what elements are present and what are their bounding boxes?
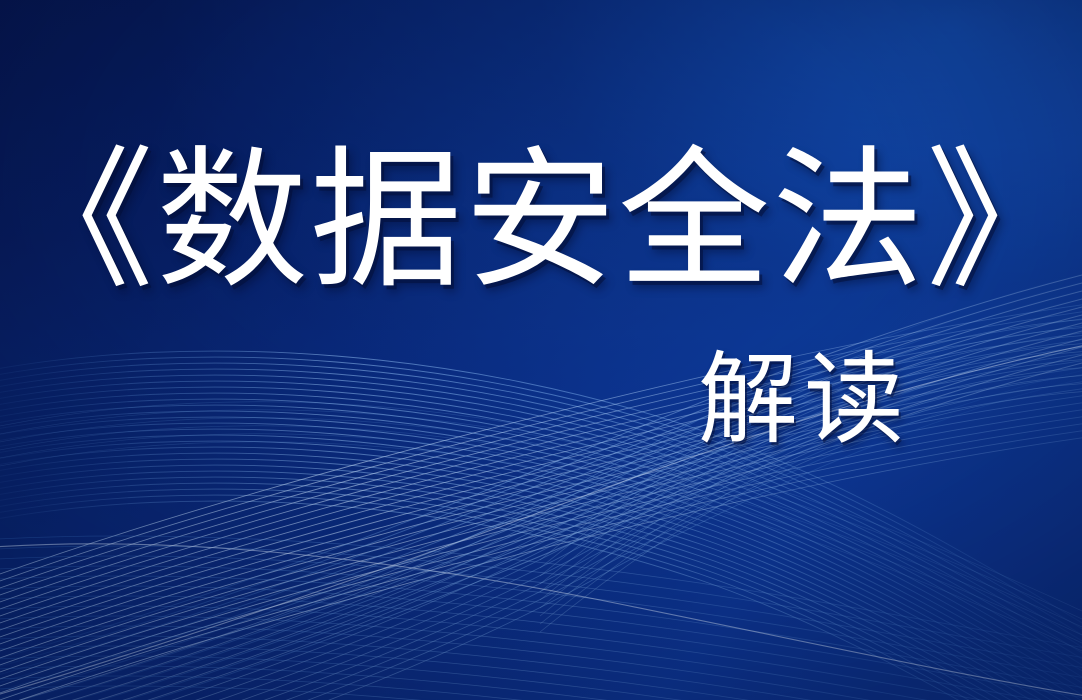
poster-text-block: 《数据安全法》 解读 [0,0,1082,700]
page-subtitle: 解读 [0,350,1082,450]
page-title: 《数据安全法》 [0,140,1082,301]
poster-canvas: 《数据安全法》 解读 [0,0,1082,700]
